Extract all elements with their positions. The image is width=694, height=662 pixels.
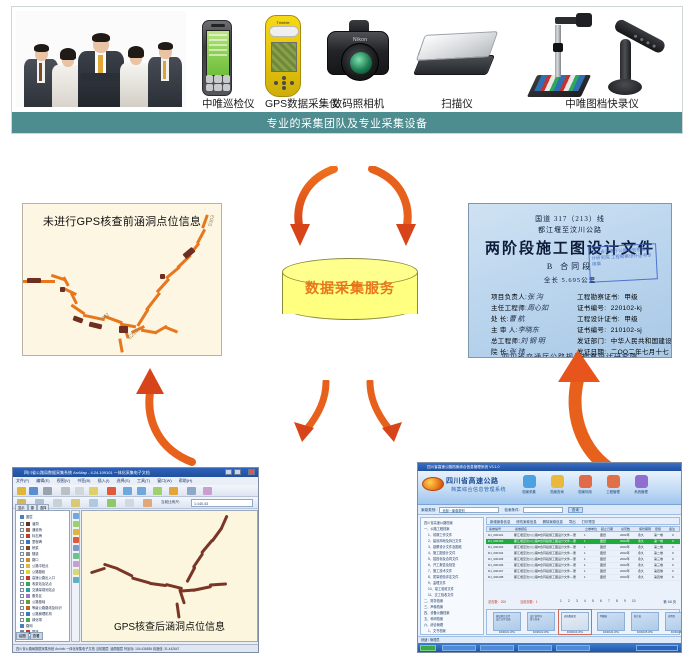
cell-id: DJ_000101 [488, 533, 503, 537]
thumbnail[interactable]: 建设项目文件设计文件封面 [493, 612, 521, 631]
filter-search-button[interactable]: 查询 [568, 507, 583, 513]
grid-header-cell: 总页数 [621, 527, 630, 531]
road-segment [136, 308, 149, 327]
toc-layer[interactable]: 服务区 [20, 593, 42, 598]
cell-pages: 2002年 [620, 533, 630, 537]
toc-layer-label: 桥梁 [32, 546, 39, 550]
thumbnail-caption: DJ00103.JPG [561, 631, 589, 634]
palette-icon-add-point[interactable] [73, 537, 79, 543]
gps-grip [269, 26, 299, 37]
pager-page-1[interactable]: 1 [560, 599, 562, 603]
tree-item[interactable]: 1、文书档案 [428, 628, 446, 633]
pager-page-5[interactable]: 5 [592, 599, 594, 603]
toolbar-icon-measure[interactable] [187, 487, 196, 495]
collect-icon [523, 475, 536, 488]
menu-item-file[interactable]: 文件(F) [16, 478, 29, 483]
tree-item[interactable]: 7、施工技术文件 [428, 568, 452, 573]
pager-page-8[interactable]: 8 [616, 599, 618, 603]
pager-current: 当前页数：1 [520, 599, 538, 604]
toc-group[interactable]: 路网 [20, 623, 33, 628]
menu-item-edit[interactable]: 编辑(E) [36, 478, 49, 483]
layers-table-of-contents[interactable]: 图层 涵洞 通道桥 标志牌 里程碑 桥梁 隧道 路口 公路中桩点 公路路段 高速… [15, 510, 70, 642]
menu-item-selection[interactable]: 选择(S) [117, 478, 130, 483]
toolbar-icon-save[interactable] [29, 487, 38, 495]
pager-page-6[interactable]: 6 [600, 599, 602, 603]
thumbnail[interactable]: 统计表 [631, 612, 659, 631]
toc-layer-label: 公路基础 [32, 600, 45, 604]
cell-date: 图纸 [600, 563, 606, 567]
tree-item-label: 六、综合管理 [424, 623, 443, 627]
tree-item-label: 二、财务档案 [424, 599, 443, 603]
cell-pages: 2002年 [620, 545, 630, 549]
road-segment [164, 325, 178, 333]
culvert-marker [60, 287, 65, 292]
tree-item-label: 五、科研档案 [424, 617, 443, 621]
pda-keypad [206, 75, 230, 91]
taskbar-start-button[interactable] [420, 645, 436, 651]
cell-keep: 永久 [638, 569, 644, 573]
road-segment [62, 276, 69, 286]
toolbar-button-system[interactable]: 系统管理 [628, 475, 654, 494]
toc-layer-label: 交通量观测站点 [32, 588, 55, 592]
toc-layer[interactable]: 公路中桩点 [20, 563, 48, 568]
grid-header-cell: 立卷单位 [585, 527, 597, 531]
road-label: X42 [100, 312, 111, 322]
toc-layer-label: 绿化带 [32, 618, 42, 622]
team-member [148, 33, 182, 107]
system-icon [635, 475, 648, 488]
doc-footer: 四川省交通厅公路规划勘察设计研究院 [469, 352, 671, 358]
cell-id: DJ_000102 [488, 539, 503, 543]
toolbar-button-collect[interactable]: 档案采集 [516, 475, 542, 494]
road-segment [156, 278, 170, 293]
toolbar-icon-geoproc[interactable] [143, 499, 152, 507]
toolbar-icon-select[interactable] [203, 487, 212, 495]
taskbar-item[interactable] [556, 645, 590, 651]
cell-unit: 1 [584, 551, 586, 555]
grid-header-cell: 密级 [655, 527, 661, 531]
toc-layer[interactable]: 通道桥 [20, 527, 42, 532]
gps-brand-label: Trimble [266, 20, 300, 25]
toc-layer-label: 涵洞 [32, 522, 39, 526]
team-photo [16, 11, 186, 107]
cell-note: 0 [672, 575, 674, 579]
equipment-strip: 中唯巡检仪 Trimble GPS数据采集仪 [12, 7, 682, 114]
arrow-service-to-map-top [288, 166, 348, 256]
statusbar-text: 就绪 / 管理员 [421, 638, 440, 642]
toc-layer[interactable]: 收费站及站点 [20, 581, 52, 586]
cell-note: 0 [672, 533, 674, 537]
use-icon [579, 475, 592, 488]
doc-cam-knob [553, 43, 563, 52]
toc-layer[interactable]: 公路基础 [20, 599, 45, 604]
cell-date: 图纸 [600, 575, 606, 579]
menu-item-window[interactable]: 窗口(W) [157, 478, 171, 483]
cell-id: DJ_000104 [488, 551, 503, 555]
road-label: G213 [127, 329, 140, 342]
thumbnail-preview-text: 明细表 [598, 613, 624, 620]
tree-item[interactable]: 6、开工报告及批复 [428, 562, 455, 567]
thumbnail-caption: DJ00102.JPG [527, 631, 555, 634]
toolbar-icon-zoom-in[interactable] [123, 487, 132, 495]
cell-note: 0 [672, 563, 674, 567]
tree-item[interactable]: 四、设备仪器档案 [424, 610, 450, 615]
thumbnail-preview-text: 说明页 [666, 613, 682, 620]
palette-icon-pan[interactable] [73, 521, 79, 527]
grid-header-row: 案卷编号 案卷题名 立卷单位 起止日期 总页数 保管期限 密级 备注 [486, 526, 680, 532]
scale-label: 当前比例尺: [161, 500, 180, 505]
cell-level: 第三卷 [654, 557, 663, 561]
cell-id: DJ_000105 [488, 557, 503, 561]
cell-unit: 1 [584, 545, 586, 549]
road-polyline [192, 552, 205, 569]
tree-item[interactable]: 六、综合管理 [424, 622, 443, 627]
tree-item[interactable]: 10、竣工验收文件 [428, 586, 454, 591]
window-maximize-button[interactable] [234, 469, 241, 475]
toolbar-button-label: 工程管理 [600, 489, 626, 494]
road-polyline [209, 582, 227, 586]
cell-unit: 1 [584, 575, 586, 579]
toc-layer[interactable]: 等级公路路线及标识 [20, 605, 62, 610]
pager-page-3[interactable]: 3 [576, 599, 578, 603]
grid-header-cell: 保管期限 [639, 527, 651, 531]
toc-layer[interactable]: 隧道 [20, 551, 39, 556]
tree-item[interactable]: 11、交工验收文件 [428, 592, 454, 597]
scanner-lid [416, 31, 499, 61]
cell-level: 第三卷 [654, 563, 663, 567]
toc-button-draw[interactable]: 绘图 [16, 632, 29, 640]
pda-body [202, 20, 232, 96]
toc-bottom-buttons[interactable]: 绘图 查看 [16, 633, 43, 638]
cell-keep: 永久 [638, 539, 644, 543]
tree-item-label: 6、开工报告及批复 [428, 563, 455, 567]
statusbar: 四川省公路局数据采集系统 ArcInfo 一体化采集电子文档 当前图层: 涵洞图… [13, 644, 258, 652]
grid-header-cell: 案卷编号 [489, 527, 501, 531]
cell-unit: 1 [584, 539, 586, 543]
map-before-gps: 未进行GPS核查前涵洞点位信息 X42 G213 [22, 203, 222, 356]
toolbar-icon-table[interactable] [125, 499, 134, 507]
grid-toolbar[interactable]: 新增案卷信息 修改案卷信息 删除案卷信息 导出 打印预览 [486, 517, 680, 525]
pager-total: 总页数：200 [488, 599, 506, 604]
toolbar-icon-gps[interactable] [107, 499, 116, 507]
map-before-title: 未进行GPS核查前涵洞点位信息 [23, 213, 221, 229]
taskbar-item[interactable] [442, 645, 476, 651]
cell-unit: 1 [584, 557, 586, 561]
thumbnail-preview-text: 设计说明书章节目录 [528, 613, 554, 623]
toolbar-icon-attribute[interactable] [71, 499, 80, 507]
tree-item-label: 5、招投标及合同文件 [428, 557, 458, 561]
toc-layer-label: 隧道 [32, 552, 39, 556]
toc-layer[interactable]: 公路路段 [20, 569, 45, 574]
cell-unit: 1 [584, 563, 586, 567]
pager-page-10[interactable]: 10 [632, 599, 636, 603]
toolbar-icon-add-data[interactable] [107, 487, 116, 495]
filter-input-condition[interactable] [523, 507, 563, 513]
menu-item-bookmarks[interactable]: 书签(B) [77, 478, 90, 483]
toolbar-button-label: 档案查询 [544, 489, 570, 494]
device-gps-collector: Trimble GPS数据采集仪 [265, 15, 301, 110]
cell-title: 都江堰至汶川公路B合同段施工图设计文件－册 [514, 533, 576, 537]
toolbar-row-1[interactable] [13, 485, 258, 497]
filter-bar[interactable]: 案卷类别: 全部－案卷类别 检索条件: 查询 [418, 505, 681, 515]
toolbar-icon-zoom-out[interactable] [137, 487, 146, 495]
team-member [78, 23, 124, 107]
palette-icon-measure[interactable] [73, 561, 79, 567]
tree-item[interactable]: 三、声像档案 [424, 604, 443, 609]
query-icon [551, 475, 564, 488]
cell-date: 图纸 [600, 533, 606, 537]
toc-layer[interactable]: 交通量观测站点 [20, 587, 55, 592]
toc-root[interactable]: 图层 [20, 514, 33, 519]
map-canvas-caption: GPS核查后涵洞点位信息 [82, 618, 257, 633]
cell-keep: 永久 [638, 545, 644, 549]
window-title-text: 四川省高速公路档案综合信息管理系统 V3.1.0 [427, 465, 499, 469]
tree-item-label: 4、施工图设计文件 [428, 551, 455, 555]
brand-name: 四川省高速公路 [446, 476, 499, 486]
app-logo-icon [422, 477, 444, 491]
brand-subtitle: 档案综合信息管理系统 [451, 486, 506, 493]
os-taskbar[interactable] [418, 643, 681, 652]
toc-layer[interactable]: 高速公路出入口 [20, 575, 55, 580]
scale-value: 1:140,43 [194, 502, 208, 506]
menu-item-help[interactable]: 帮助(H) [179, 478, 193, 483]
toolbar-icon-cut[interactable] [61, 487, 70, 495]
tree-item-label: 1、前期工作文件 [428, 533, 452, 537]
archive-category-tree[interactable]: 四川省高速公路档案 一、公路工程档案 1、前期工作文件 2、建设用地及拆迁文件 … [420, 517, 484, 635]
tree-item-label: 四、设备仪器档案 [424, 611, 450, 615]
taskbar-item[interactable] [518, 645, 552, 651]
editor-tool-palette[interactable] [71, 510, 80, 642]
cell-keep: 永久 [638, 563, 644, 567]
culvert-marker [27, 278, 41, 283]
toc-layer[interactable]: 路口 [20, 557, 39, 562]
cell-level: 第二卷 [654, 545, 663, 549]
toolbar-icon-copy[interactable] [75, 487, 84, 495]
tree-item[interactable]: 8、质量检验评定文件 [428, 574, 458, 579]
tree-item[interactable]: 一、公路工程档案 [424, 526, 450, 531]
approval-stamp: 四川省交通厅公路规划勘察设计研究院 工程勘察设计证书专用章 [588, 243, 658, 283]
cell-title: 都江堰至汶川公路B合同段施工图设计文件－册 [514, 551, 576, 555]
tree-item[interactable]: 五、科研档案 [424, 616, 443, 621]
arrow-service-to-appleft [292, 380, 340, 452]
toc-group-label: 路网 [26, 624, 33, 628]
menu-item-tools[interactable]: 工具(T) [137, 478, 150, 483]
tree-root[interactable]: 四川省高速公路档案 [424, 520, 453, 525]
cell-title: 都江堰至汶川公路B合同段施工图设计文件－册 [514, 557, 576, 561]
device-digital-camera: Nikon 数码照相机 [327, 17, 389, 110]
toc-layer[interactable]: 里程碑 [20, 539, 42, 544]
palette-icon-add-poly[interactable] [73, 553, 79, 559]
filter-label-condition: 检索条件: [504, 508, 519, 512]
cell-pages: 2002年 [620, 557, 630, 561]
window-minimize-button[interactable] [225, 469, 232, 475]
statusbar: 就绪 / 管理员 [418, 636, 681, 643]
doc-cam-mat [534, 75, 585, 91]
map-canvas-after-gps[interactable]: GPS核查后涵洞点位信息 [81, 510, 258, 642]
device-pda: 中唯巡检仪 [202, 20, 232, 110]
toc-layer[interactable]: 桥梁 [20, 545, 39, 550]
toolbar-button-label: 档案采集 [516, 489, 542, 494]
toolbar-icon-pan[interactable] [153, 487, 162, 495]
arrow-service-to-appright [358, 380, 406, 452]
pda-screen [206, 30, 230, 76]
doc-highway-line: 都江堰至汶川公路 [469, 225, 671, 235]
toc-layer-label: 等级公路路线及标识 [32, 606, 62, 610]
toolbar-button-query[interactable]: 档案查询 [544, 475, 570, 494]
tree-item-label: 8、质量检验评定文件 [428, 575, 458, 579]
cell-title: 都江堰至汶川公路B合同段施工图设计文件－册 [514, 539, 576, 543]
gis-collection-app-window[interactable]: 四川省公路局数据采集系统 ArcMap - 4.24.109101 一体化采集电… [12, 467, 259, 653]
toolbar-icon-label[interactable] [89, 499, 98, 507]
tree-item-label: 10、竣工验收文件 [428, 587, 454, 591]
tree-item-label: 7、施工技术文件 [428, 569, 452, 573]
taskbar-item[interactable] [480, 645, 514, 651]
cell-id: DJ_000108 [488, 575, 503, 579]
toc-layer[interactable]: 标志牌 [20, 533, 42, 538]
tree-item-label: 3、勘察设计文件及图纸 [428, 545, 462, 549]
pager-page-4[interactable]: 4 [584, 599, 586, 603]
cell-note: 0 [672, 551, 674, 555]
camera-lens [341, 43, 379, 81]
toc-layer[interactable]: 绿化带 [20, 617, 42, 622]
culvert-marker [119, 326, 128, 333]
menu-item-insert[interactable]: 插入(I) [98, 478, 110, 483]
scanned-design-document: 国道 317（213）线 都江堰至汶川公路 两阶段施工图设计文件 B 合同段 全… [468, 203, 672, 358]
thumbnail[interactable]: 设计说明书章节目录 [527, 612, 555, 631]
slide-canvas: 中唯巡检仪 Trimble GPS数据采集仪 [0, 0, 694, 662]
menu-item-view[interactable]: 视图(V) [57, 478, 70, 483]
filter-select-category[interactable]: 全部－案卷类别 [439, 507, 499, 513]
road-polyline [219, 515, 228, 531]
palette-icon-select[interactable] [73, 513, 79, 519]
thumbnail-caption: DJ00104.JPG [597, 631, 625, 634]
thumbnail-caption: DJ00101.JPG [493, 631, 521, 634]
thumbnail-caption: DJ00105.JPG [631, 631, 659, 634]
pager-page-9[interactable]: 9 [624, 599, 626, 603]
grid-header-cell: 案卷题名 [515, 527, 527, 531]
grid-button-print[interactable]: 打印预览 [582, 520, 596, 524]
archive-content-pane[interactable]: 新增案卷信息 修改案卷信息 删除案卷信息 导出 打印预览 案卷编号 案卷题名 立… [486, 517, 680, 635]
grid-header-cell: 备注 [669, 527, 675, 531]
device-label-doccam: 中唯图档快录仪 [532, 96, 672, 111]
tree-item[interactable]: 3、勘察设计文件及图纸 [428, 544, 462, 549]
toc-button-view[interactable]: 查看 [30, 632, 43, 640]
arrow-appleft-to-map [130, 364, 200, 470]
doc-cam-head [576, 13, 592, 27]
toc-layer[interactable]: 涵洞 [20, 521, 39, 526]
cell-level: 第一卷 [654, 539, 663, 543]
tree-item-label: 一、公路工程档案 [424, 527, 450, 531]
cell-title: 都江堰至汶川公路B合同段施工图设计文件－册 [514, 569, 576, 573]
tree-root-label: 四川省高速公路档案 [424, 521, 453, 525]
palette-icon-add-line[interactable] [73, 545, 79, 551]
window-titlebar: 四川省公路局数据采集系统 ArcMap - 4.24.109101 一体化采集电… [13, 468, 258, 477]
toc-layer[interactable]: 公路管理机构 [20, 611, 52, 616]
grid-button-add[interactable]: 新增案卷信息 [490, 520, 510, 524]
tree-item[interactable]: 4、施工图设计文件 [428, 550, 455, 555]
grid-button-delete[interactable]: 删除案卷信息 [543, 520, 563, 524]
window-title-text: 四川省公路局数据采集系统 ArcMap - 4.24.109101 一体化采集电… [24, 470, 150, 475]
tree-item-label: 9、监理文件 [428, 581, 446, 585]
tree-item[interactable]: 5、招投标及合同文件 [428, 556, 458, 561]
road-polyline [175, 602, 180, 618]
toc-root-label: 图层 [26, 515, 33, 519]
grid-button-export[interactable]: 导出 [569, 520, 576, 524]
filter-label-category: 案卷类别: [421, 508, 436, 512]
banner-caption: 专业的采集团队及专业采集设备 [12, 112, 682, 133]
device-label-pda: 中唯巡检仪 [202, 96, 232, 111]
cell-keep: 永久 [638, 575, 644, 579]
cell-level: 第二卷 [654, 551, 663, 555]
tree-item-label: 三、声像档案 [424, 605, 443, 609]
cell-unit: 1 [584, 533, 586, 537]
pager-summary: 第 1/6 页 [663, 599, 676, 604]
toolbar-icon-paste[interactable] [89, 487, 98, 495]
window-titlebar: 四川省高速公路档案综合信息管理系统 V3.1.0 [418, 463, 681, 471]
toolbar-icon-identify[interactable] [169, 487, 178, 495]
cell-pages: 2002年 [620, 563, 630, 567]
toc-layer-label: 收费站及站点 [32, 582, 52, 586]
cell-pages: 2002年 [620, 575, 630, 579]
toolbar-button-label: 系统管理 [628, 489, 654, 494]
road-segment [145, 292, 161, 311]
pager-page-2[interactable]: 2 [568, 599, 570, 603]
palette-icon-gps-sync[interactable] [73, 577, 79, 583]
tree-item-label: 11、交工验收文件 [428, 593, 454, 597]
thumbnail-preview-text: 建设项目文件设计文件封面 [494, 613, 520, 623]
toolbar-button-project[interactable]: 工程管理 [600, 475, 626, 494]
thumbnail[interactable]: 说明页 [665, 612, 682, 631]
tree-item[interactable]: 二、财务档案 [424, 598, 443, 603]
scale-combo[interactable]: 1:140,43 [191, 499, 253, 507]
taskbar-tray[interactable] [636, 645, 678, 651]
pagination-bar[interactable]: 总页数：200 当前页数：1 1 2 3 4 5 6 7 8 9 10 第 1/… [486, 599, 680, 607]
tree-item-label: 2、建设用地及拆迁文件 [428, 539, 462, 543]
tree-item[interactable]: 2、建设用地及拆迁文件 [428, 538, 462, 543]
cell-title: 都江堰至汶川公路B合同段施工图设计文件－册 [514, 575, 576, 579]
tree-item[interactable]: 1、前期工作文件 [428, 532, 452, 537]
thumbnail[interactable]: 明细表 [597, 612, 625, 631]
archive-management-app-window[interactable]: 四川省高速公路档案综合信息管理系统 V3.1.0 四川省高速公路 档案综合信息管… [417, 462, 682, 653]
thumbnail-preview-text: 统计表 [632, 613, 658, 620]
cell-id: DJ_000106 [488, 563, 503, 567]
gps-body: Trimble [265, 15, 301, 97]
cylinder-label: 数据采集服务 [282, 278, 418, 298]
toolbar-icon-open[interactable] [17, 487, 26, 495]
cell-note: 0 [672, 539, 674, 543]
table-row[interactable]: DJ_000108 都江堰至汶川公路B合同段施工图设计文件－册 1 图纸 200… [486, 575, 680, 581]
pager-page-7[interactable]: 7 [608, 599, 610, 603]
toolbar-button-use[interactable]: 档案利用 [572, 475, 598, 494]
cell-note: 0 [672, 557, 674, 561]
gps-keypad [274, 76, 294, 90]
cell-date: 图纸 [600, 539, 606, 543]
toc-layer-label: 公路路段 [32, 570, 45, 574]
brand-toolbar: 四川省高速公路 档案综合信息管理系统 档案采集 档案查询 档案利用 工程管理 系… [418, 471, 681, 505]
palette-icon-attribute[interactable] [73, 569, 79, 575]
palette-icon-zoom[interactable] [73, 529, 79, 535]
tree-item[interactable]: 9、监理文件 [428, 580, 446, 585]
menubar[interactable]: 文件(F) 编辑(E) 视图(V) 书签(B) 插入(I) 选择(S) 工具(T… [13, 477, 258, 485]
device-scanner: 扫描仪 [417, 21, 497, 110]
cell-date: 图纸 [600, 557, 606, 561]
road-segment [118, 338, 123, 352]
toolbar-icon-print[interactable] [43, 487, 52, 495]
document-thumbnail-strip[interactable]: 建设项目文件设计文件封面 DJ00101.JPG 设计说明书章节目录 DJ001… [486, 609, 680, 635]
cell-date: 图纸 [600, 545, 606, 549]
grid-button-edit[interactable]: 修改案卷信息 [516, 520, 536, 524]
window-close-button[interactable] [248, 469, 255, 475]
